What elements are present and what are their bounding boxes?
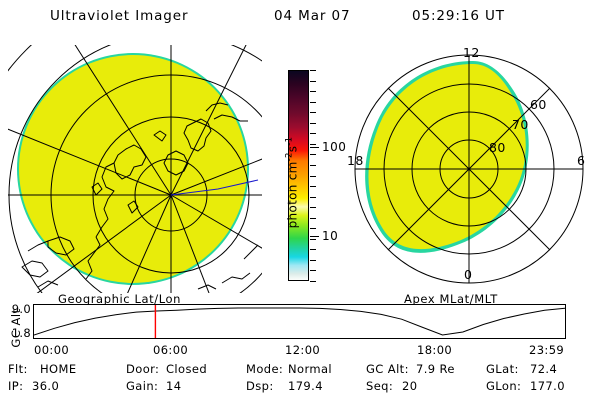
uvi-image-display: Ultraviolet Imager 04 Mar 07 05:29:16 UT <box>0 0 600 400</box>
status-value-row2-1: 14 <box>166 379 181 393</box>
colorbar-minor-tick <box>310 91 316 92</box>
time-axis-tick-4: 23:59 <box>529 343 564 357</box>
colorbar-minor-tick <box>310 281 316 282</box>
colorbar-minor-tick <box>310 270 316 271</box>
colorbar-minor-tick <box>310 239 316 240</box>
status-value-row2-3: 20 <box>402 379 417 393</box>
geographic-polar-svg <box>8 45 262 293</box>
status-value-row1-4: 72.4 <box>530 362 557 376</box>
cbar-label-exp1: -2 <box>285 152 295 161</box>
colorbar-minor-tick <box>310 197 316 198</box>
status-label-row2-3: Seq: <box>366 379 393 393</box>
status-label-row1-0: Flt: <box>8 362 28 376</box>
colorbar-axis-label: photon cm-2s-1 <box>285 108 300 258</box>
colorbar-major-tick <box>310 236 319 237</box>
altitude-ytick-bottom: 1.8 <box>0 326 31 340</box>
mlt-label-12: 12 <box>463 45 480 60</box>
cbar-label-mid: s <box>286 146 300 153</box>
altitude-curve <box>34 308 565 335</box>
colorbar-minor-tick <box>310 176 316 177</box>
colorbar-minor-tick <box>310 249 316 250</box>
observation-date: 04 Mar 07 <box>274 8 351 24</box>
colorbar-tick-label-0: 100 <box>322 140 346 154</box>
cbar-label-exp2: -1 <box>285 137 295 146</box>
colorbar-major-tick <box>310 147 319 148</box>
colorbar-minor-tick <box>310 144 316 145</box>
status-value-row2-2: 179.4 <box>288 379 323 393</box>
status-label-row2-4: GLon: <box>486 379 521 393</box>
status-value-row1-2: Normal <box>288 362 332 376</box>
colorbar-minor-tick <box>310 165 316 166</box>
mlat-label-60: 60 <box>530 97 547 112</box>
time-axis-tick-1: 06:00 <box>153 343 188 357</box>
status-label-row2-1: Gain: <box>126 379 158 393</box>
time-axis: 00:0006:0012:0018:0023:59 <box>0 343 600 359</box>
header-bar: Ultraviolet Imager 04 Mar 07 05:29:16 UT <box>0 5 600 29</box>
apex-polar-svg <box>345 45 593 293</box>
colorbar-minor-tick <box>310 260 316 261</box>
colorbar-minor-tick <box>310 123 316 124</box>
observation-time: 05:29:16 UT <box>412 8 505 24</box>
mlt-label-0: 0 <box>464 267 472 282</box>
geographic-polar-plot[interactable] <box>8 45 262 293</box>
altitude-plot-frame[interactable] <box>33 304 566 339</box>
mlat-label-80: 80 <box>489 140 506 155</box>
status-block: Flt:HOMEDoor:ClosedMode:NormalGC Alt:7.9… <box>0 362 600 400</box>
mlt-spokes <box>355 55 583 283</box>
status-label-row2-2: Dsp: <box>246 379 274 393</box>
colorbar-minor-tick <box>310 186 316 187</box>
mlt-label-6: 6 <box>577 153 585 168</box>
orbit-altitude-panel[interactable]: GC Alt 9.0 1.8 <box>0 300 600 340</box>
apex-polar-plot[interactable]: 12 6 0 18 60 70 80 <box>345 45 593 293</box>
status-value-row2-0: 36.0 <box>32 379 59 393</box>
mlt-label-18: 18 <box>347 153 364 168</box>
colorbar-minor-tick <box>310 102 316 103</box>
colorbar-tick-label-1: 10 <box>322 229 338 243</box>
colorbar-minor-tick <box>310 70 316 71</box>
altitude-curve-svg <box>34 305 565 338</box>
status-label-row1-3: GC Alt: <box>366 362 409 376</box>
mlat-label-70: 70 <box>512 117 529 132</box>
colorbar-minor-tick <box>310 218 316 219</box>
colorbar-minor-tick <box>310 207 316 208</box>
status-value-row1-1: Closed <box>166 362 207 376</box>
status-label-row1-4: GLat: <box>486 362 519 376</box>
status-label-row1-2: Mode: <box>246 362 283 376</box>
time-axis-tick-2: 12:00 <box>285 343 320 357</box>
instrument-title: Ultraviolet Imager <box>50 8 188 24</box>
status-value-row1-0: HOME <box>40 362 77 376</box>
status-label-row1-1: Door: <box>126 362 159 376</box>
colorbar-minor-tick <box>310 133 316 134</box>
status-label-row2-0: IP: <box>8 379 23 393</box>
status-value-row1-3: 7.9 Re <box>416 362 455 376</box>
colorbar-minor-tick <box>310 154 316 155</box>
time-axis-tick-0: 00:00 <box>34 343 69 357</box>
cbar-label-main: photon cm <box>286 161 300 228</box>
colorbar-minor-tick <box>310 228 316 229</box>
colorbar-minor-tick <box>310 112 316 113</box>
altitude-ytick-top: 9.0 <box>0 302 31 316</box>
time-axis-tick-3: 18:00 <box>417 343 452 357</box>
colorbar-minor-tick <box>310 81 316 82</box>
status-value-row2-4: 177.0 <box>530 379 565 393</box>
